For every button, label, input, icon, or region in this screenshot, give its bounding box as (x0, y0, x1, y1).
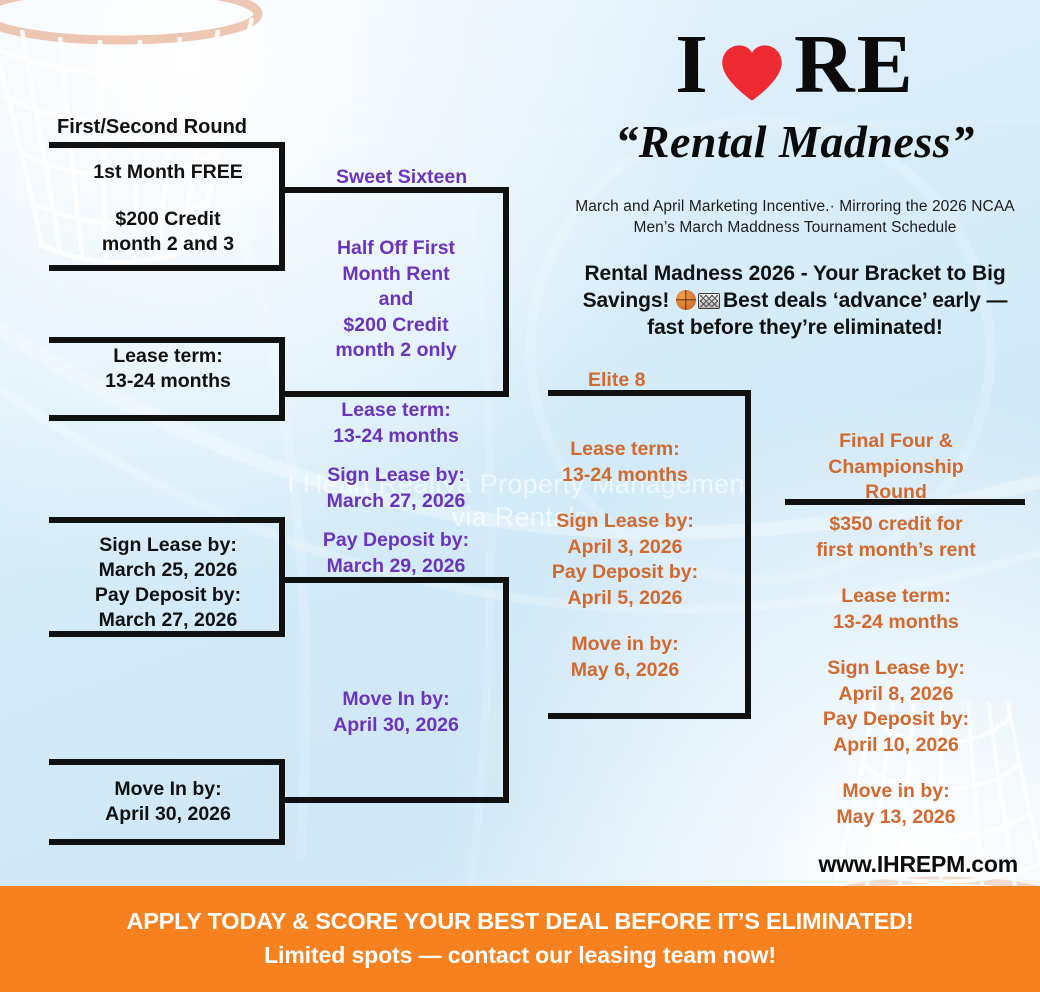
tournament-bracket: First/Second Round 1st Month FREE $200 C… (0, 0, 1040, 992)
round-label-sweet-sixteen: Sweet Sixteen (336, 166, 467, 189)
s16-top-line-3: and (288, 287, 504, 313)
seed-4-line-2: April 30, 2026 (56, 802, 280, 827)
s16-mid-line-1: Lease term: (288, 398, 504, 424)
seed-2-line-1: Lease term: (56, 344, 280, 369)
s16-bot-line-1: Move In by: (288, 687, 504, 713)
e8-line-4: Sign Lease by: (535, 509, 715, 535)
bracket-cell-final-four: $350 credit for first month’s rent Lease… (780, 512, 1012, 830)
s16-mid-line-4: Sign Lease by: (288, 463, 504, 489)
seed-2-line-2: 13-24 months (56, 369, 280, 394)
e8-line-9: Move in by: (535, 632, 715, 658)
ff-line-12: Move in by: (780, 779, 1012, 805)
bracket-cell-seed-2: Lease term: 13-24 months (56, 344, 280, 394)
website-link[interactable]: www.IHREPM.com (818, 851, 1018, 878)
ff-spacer-1 (780, 563, 1012, 584)
seed-1-line-4: month 2 and 3 (56, 232, 280, 257)
ff-label-line-2: Championship (780, 455, 1012, 481)
s16-mid-spacer-2 (288, 514, 504, 528)
ff-line-1: $350 credit for (780, 512, 1012, 538)
ff-label-line-1: Final Four & (780, 429, 1012, 455)
e8-line-5: April 3, 2026 (535, 535, 715, 561)
s16-mid-spacer-1 (288, 449, 504, 463)
ff-line-5: 13-24 months (780, 610, 1012, 636)
ff-line-9: Pay Deposit by: (780, 707, 1012, 733)
s16-mid-line-2: 13-24 months (288, 424, 504, 450)
seed-1-line-1: 1st Month FREE (56, 160, 280, 185)
seed-3-line-3: Pay Deposit by: (56, 583, 280, 608)
s16-top-line-5: month 2 only (288, 338, 504, 364)
seed-1-spacer (56, 185, 280, 207)
bracket-cell-elite-8: Lease term: 13-24 months Sign Lease by: … (535, 437, 715, 683)
ff-line-7: Sign Lease by: (780, 656, 1012, 682)
round-label-final-four: Final Four & Championship Round (780, 429, 1012, 506)
ff-line-13: May 13, 2026 (780, 805, 1012, 831)
e8-line-6: Pay Deposit by: (535, 560, 715, 586)
e8-spacer-1 (535, 488, 715, 509)
s16-mid-line-7: Pay Deposit by: (288, 528, 504, 554)
s16-mid-line-8: March 29, 2026 (288, 554, 504, 580)
cta-banner: APPLY TODAY & SCORE YOUR BEST DEAL BEFOR… (0, 886, 1040, 992)
ff-label-line-3: Round (780, 480, 1012, 506)
s16-mid-line-5: March 27, 2026 (288, 489, 504, 515)
seed-4-line-1: Move In by: (56, 777, 280, 802)
e8-line-2: 13-24 months (535, 463, 715, 489)
e8-spacer-2 (535, 611, 715, 632)
cta-line-1: APPLY TODAY & SCORE YOUR BEST DEAL BEFOR… (126, 906, 913, 936)
ff-line-2: first month’s rent (780, 538, 1012, 564)
seed-3-line-4: March 27, 2026 (56, 608, 280, 633)
ff-spacer-2 (780, 635, 1012, 656)
round-label-first-second: First/Second Round (57, 116, 247, 139)
bracket-cell-sweet-sixteen-middle: Lease term: 13-24 months Sign Lease by: … (288, 398, 504, 579)
seed-3-line-1: Sign Lease by: (56, 533, 280, 558)
ff-line-4: Lease term: (780, 584, 1012, 610)
cta-line-2: Limited spots — contact our leasing team… (264, 938, 776, 972)
bracket-cell-sweet-sixteen-bottom: Move In by: April 30, 2026 (288, 687, 504, 738)
e8-line-1: Lease term: (535, 437, 715, 463)
e8-line-7: April 5, 2026 (535, 586, 715, 612)
bracket-cell-sweet-sixteen-top: Half Off First Month Rent and $200 Credi… (288, 236, 504, 364)
s16-top-line-4: $200 Credit (288, 313, 504, 339)
e8-line-10: May 6, 2026 (535, 658, 715, 684)
ff-spacer-3 (780, 758, 1012, 779)
bracket-cell-seed-3: Sign Lease by: March 25, 2026 Pay Deposi… (56, 533, 280, 633)
ff-line-10: April 10, 2026 (780, 733, 1012, 759)
round-label-elite-8: Elite 8 (588, 369, 645, 392)
bracket-cell-seed-4: Move In by: April 30, 2026 (56, 777, 280, 827)
s16-bot-line-2: April 30, 2026 (288, 713, 504, 739)
s16-top-line-2: Month Rent (288, 262, 504, 288)
seed-1-line-3: $200 Credit (56, 207, 280, 232)
s16-top-line-1: Half Off First (288, 236, 504, 262)
ff-line-8: April 8, 2026 (780, 682, 1012, 708)
bracket-cell-seed-1: 1st Month FREE $200 Credit month 2 and 3 (56, 160, 280, 257)
seed-3-line-2: March 25, 2026 (56, 558, 280, 583)
